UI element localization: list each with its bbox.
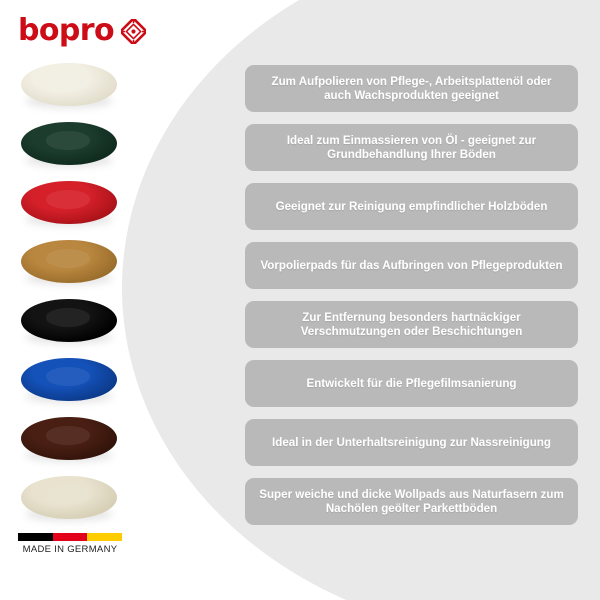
wool-pad (21, 476, 117, 519)
pad-list (0, 58, 140, 530)
feature-text: Zum Aufpolieren von Pflege-, Arbeitsplat… (259, 75, 564, 103)
pad-item (0, 176, 140, 235)
pad-item (0, 294, 140, 353)
brand-name: bopro (18, 16, 114, 46)
green-pad (21, 122, 117, 165)
feature-text: Zur Entfernung besonders hartnäckiger Ve… (259, 311, 564, 339)
feature-text: Geeignet zur Reinigung empfindlicher Hol… (276, 200, 548, 214)
pad-item (0, 353, 140, 412)
blue-pad (21, 358, 117, 401)
feature-box: Ideal zum Einmassieren von Öl - geeignet… (245, 124, 578, 171)
feature-box: Super weiche und dicke Wollpads aus Natu… (245, 478, 578, 525)
infographic-page: bopro (0, 0, 600, 600)
feature-list: Zum Aufpolieren von Pflege-, Arbeitsplat… (245, 65, 578, 525)
brand-logo: bopro (18, 16, 146, 46)
red-pad (21, 181, 117, 224)
feature-box: Geeignet zur Reinigung empfindlicher Hol… (245, 183, 578, 230)
pad-item (0, 471, 140, 530)
feature-text: Super weiche und dicke Wollpads aus Natu… (259, 488, 564, 516)
german-flag-icon (18, 533, 122, 541)
pad-item (0, 117, 140, 176)
tan-pad (21, 240, 117, 283)
feature-text: Entwickelt für die Pflegefilmsanierung (306, 377, 516, 391)
made-in-germany-badge: MADE IN GERMANY (18, 533, 122, 555)
diamond-target-icon (121, 19, 146, 44)
feature-box: Ideal in der Unterhaltsreinigung zur Nas… (245, 419, 578, 466)
feature-text: Ideal zum Einmassieren von Öl - geeignet… (259, 134, 564, 162)
pad-item (0, 412, 140, 471)
feature-text: Ideal in der Unterhaltsreinigung zur Nas… (272, 436, 551, 450)
feature-box: Vorpolierpads für das Aufbringen von Pfl… (245, 242, 578, 289)
black-pad (21, 299, 117, 342)
feature-text: Vorpolierpads für das Aufbringen von Pfl… (260, 259, 562, 273)
pad-item (0, 235, 140, 294)
made-in-germany-label: MADE IN GERMANY (18, 544, 122, 555)
pad-item (0, 58, 140, 117)
feature-box: Zur Entfernung besonders hartnäckiger Ve… (245, 301, 578, 348)
feature-box: Zum Aufpolieren von Pflege-, Arbeitsplat… (245, 65, 578, 112)
brown-pad (21, 417, 117, 460)
white-pad (21, 63, 117, 106)
feature-box: Entwickelt für die Pflegefilmsanierung (245, 360, 578, 407)
